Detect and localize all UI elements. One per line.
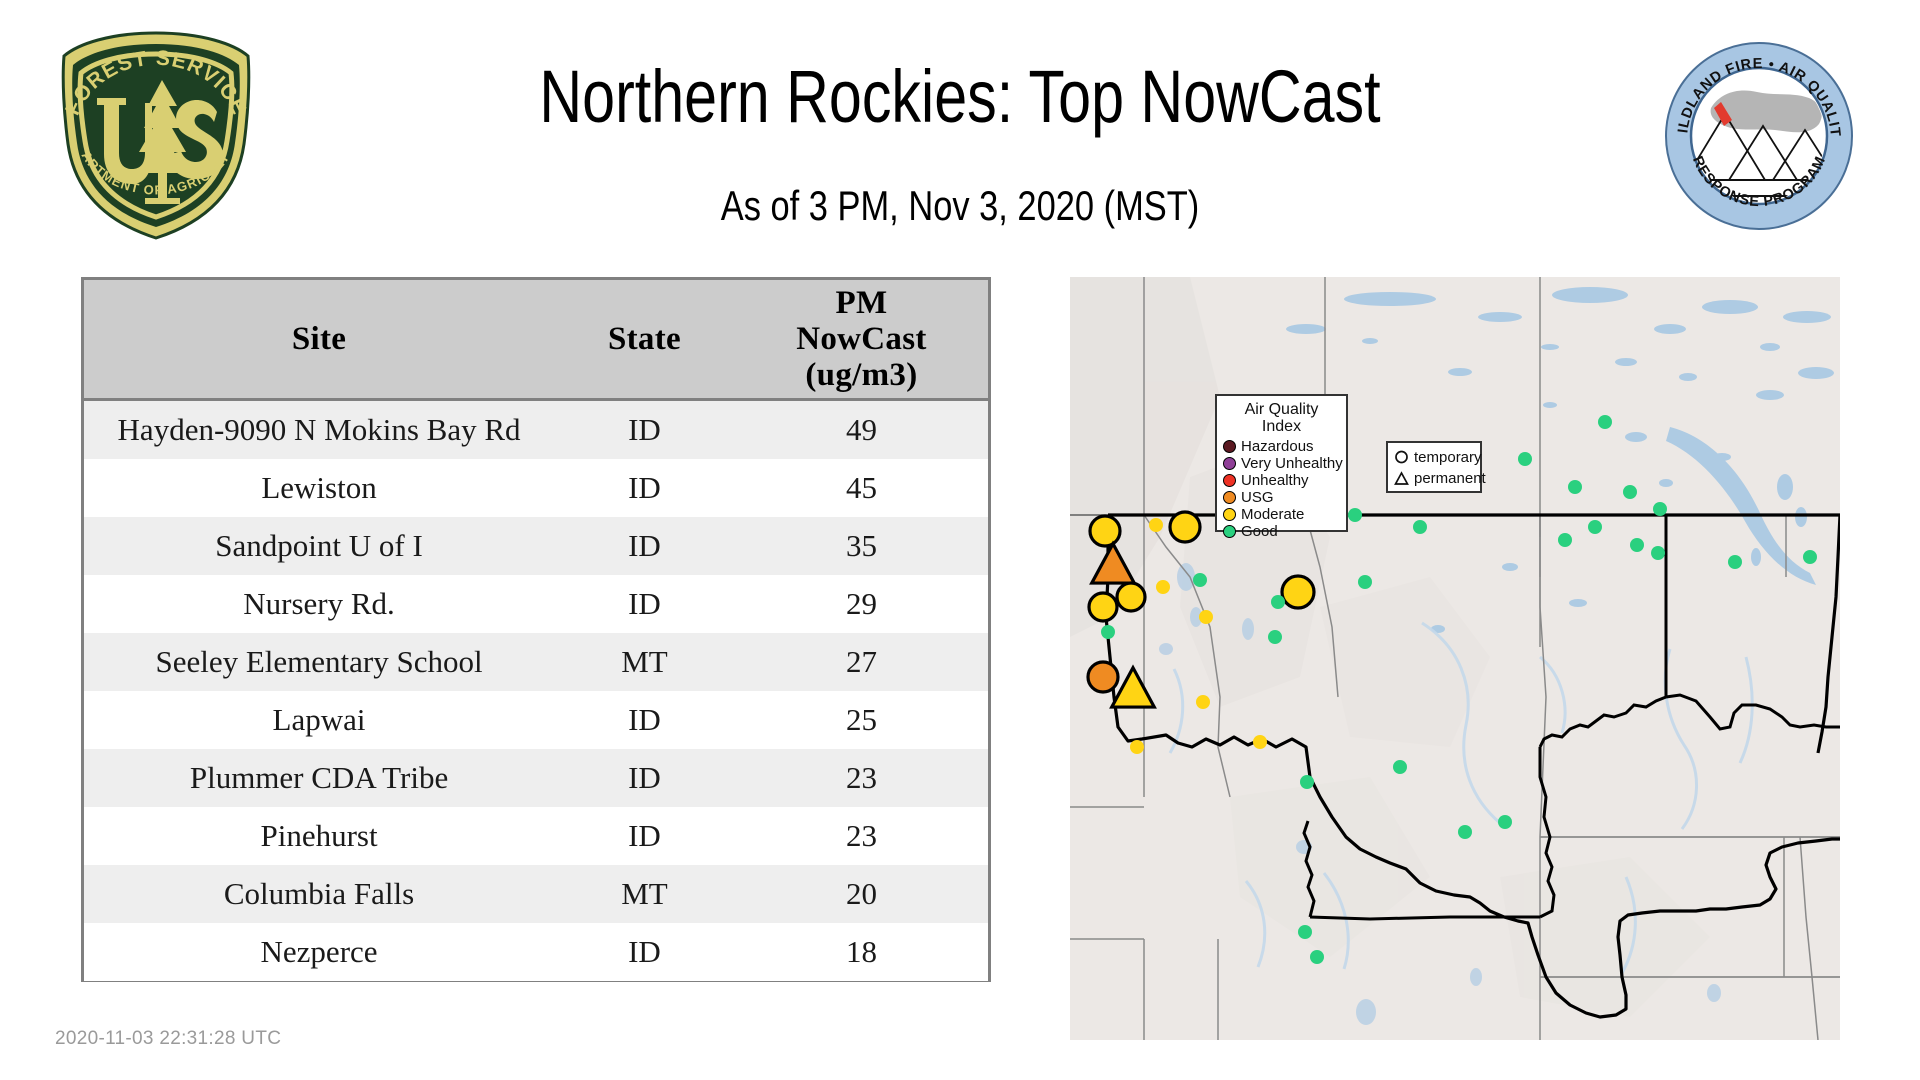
legend-row-temporary: temporary bbox=[1393, 447, 1475, 468]
pm-nowcast-cell: 23 bbox=[735, 807, 988, 865]
map-marker-monitor[interactable] bbox=[1130, 740, 1144, 754]
table-row: Sandpoint U of IID35 bbox=[84, 517, 988, 575]
pm-nowcast-cell: 35 bbox=[735, 517, 988, 575]
map-marker-monitor[interactable] bbox=[1458, 825, 1472, 839]
aqi-legend-label: Hazardous bbox=[1241, 439, 1314, 455]
aqi-color-swatch bbox=[1223, 474, 1236, 487]
pm-nowcast-cell: 25 bbox=[735, 691, 988, 749]
map-marker-monitor[interactable] bbox=[1271, 595, 1285, 609]
aqi-legend-title: Air Quality Index bbox=[1223, 401, 1340, 435]
map-marker-monitor[interactable] bbox=[1728, 555, 1742, 569]
pm-nowcast-cell: 18 bbox=[735, 923, 988, 981]
map-marker-monitor[interactable] bbox=[1498, 815, 1512, 829]
state-cell: ID bbox=[554, 807, 735, 865]
map-marker-monitor[interactable] bbox=[1298, 925, 1312, 939]
map-marker-monitor[interactable] bbox=[1310, 950, 1324, 964]
page-title: Northern Rockies: Top NowCast bbox=[432, 56, 1488, 138]
table-row: Seeley Elementary SchoolMT27 bbox=[84, 633, 988, 691]
state-cell: ID bbox=[554, 575, 735, 633]
map-marker-monitor[interactable] bbox=[1348, 508, 1362, 522]
map-marker-monitor[interactable] bbox=[1300, 775, 1314, 789]
table-row: Nursery Rd.ID29 bbox=[84, 575, 988, 633]
column-header-site: Site bbox=[84, 280, 554, 400]
table-row: Hayden-9090 N Mokins Bay RdID49 bbox=[84, 400, 988, 460]
aqi-legend-row: USG bbox=[1223, 489, 1340, 506]
map-marker-highlighted[interactable] bbox=[1089, 593, 1117, 621]
pm-nowcast-cell: 23 bbox=[735, 749, 988, 807]
table-row: Columbia FallsMT20 bbox=[84, 865, 988, 923]
map-marker-monitor[interactable] bbox=[1558, 533, 1572, 547]
table-row: LapwaiID25 bbox=[84, 691, 988, 749]
aqi-legend-row: Good bbox=[1223, 523, 1340, 540]
us-forest-service-shield-logo: FOREST SERVICE DEPARTMENT OF AGRICULTURE bbox=[52, 28, 260, 243]
map-marker-monitor[interactable] bbox=[1156, 580, 1170, 594]
aqi-legend-row: Moderate bbox=[1223, 506, 1340, 523]
permanent-triangle-icon bbox=[1393, 470, 1410, 487]
map-marker-monitor[interactable] bbox=[1358, 575, 1372, 589]
map-marker-monitor[interactable] bbox=[1253, 735, 1267, 749]
table-row: PinehurstID23 bbox=[84, 807, 988, 865]
legend-label-temporary: temporary bbox=[1414, 450, 1482, 466]
map-marker-highlighted[interactable] bbox=[1088, 662, 1118, 692]
table-header-row: Site State PM NowCast (ug/m3) bbox=[84, 280, 988, 400]
state-cell: ID bbox=[554, 691, 735, 749]
map-marker-highlighted[interactable] bbox=[1092, 544, 1135, 583]
aqi-legend-row: Very Unhealthy bbox=[1223, 455, 1340, 472]
aqi-legend-label: Moderate bbox=[1241, 507, 1304, 523]
table-row: Plummer CDA TribeID23 bbox=[84, 749, 988, 807]
page-subtitle: As of 3 PM, Nov 3, 2020 (MST) bbox=[419, 182, 1501, 230]
state-cell: ID bbox=[554, 923, 735, 981]
table-body: Hayden-9090 N Mokins Bay RdID49LewistonI… bbox=[84, 400, 988, 982]
aqi-legend-row: Hazardous bbox=[1223, 438, 1340, 455]
generated-timestamp: 2020-11-03 22:31:28 UTC bbox=[55, 1028, 281, 1050]
aqi-color-swatch bbox=[1223, 491, 1236, 504]
state-cell: ID bbox=[554, 749, 735, 807]
pm-nowcast-cell: 27 bbox=[735, 633, 988, 691]
wildland-fire-air-quality-seal-logo: WILDLAND FIRE • AIR QUALITY RESPONSE PRO… bbox=[1663, 40, 1855, 232]
aqi-color-swatch bbox=[1223, 440, 1236, 453]
aqi-legend-label: Unhealthy bbox=[1241, 473, 1309, 489]
pm-nowcast-cell: 49 bbox=[735, 400, 988, 460]
map-marker-highlighted[interactable] bbox=[1170, 512, 1200, 542]
site-cell: Lapwai bbox=[84, 691, 554, 749]
state-cell: ID bbox=[554, 517, 735, 575]
map-marker-monitor[interactable] bbox=[1598, 415, 1612, 429]
map-marker-monitor[interactable] bbox=[1149, 518, 1163, 532]
aqi-legend: Air Quality Index HazardousVery Unhealth… bbox=[1215, 394, 1348, 532]
map-marker-monitor[interactable] bbox=[1588, 520, 1602, 534]
pm-nowcast-cell: 20 bbox=[735, 865, 988, 923]
site-cell: Hayden-9090 N Mokins Bay Rd bbox=[84, 400, 554, 460]
aqi-color-swatch bbox=[1223, 525, 1236, 538]
map-marker-monitor[interactable] bbox=[1568, 480, 1582, 494]
state-cell: MT bbox=[554, 865, 735, 923]
site-cell: Lewiston bbox=[84, 459, 554, 517]
aqi-legend-label: Good bbox=[1241, 524, 1278, 540]
site-cell: Plummer CDA Tribe bbox=[84, 749, 554, 807]
map-marker-monitor[interactable] bbox=[1199, 610, 1213, 624]
site-cell: Nursery Rd. bbox=[84, 575, 554, 633]
pm-header-line-1: PM bbox=[735, 285, 988, 321]
aqi-legend-row: Unhealthy bbox=[1223, 472, 1340, 489]
pm-header-line-3: (ug/m3) bbox=[735, 357, 988, 393]
column-header-pm-nowcast: PM NowCast (ug/m3) bbox=[735, 280, 988, 400]
site-cell: Columbia Falls bbox=[84, 865, 554, 923]
map-marker-monitor[interactable] bbox=[1268, 630, 1282, 644]
map-marker-monitor[interactable] bbox=[1393, 760, 1407, 774]
pm-nowcast-cell: 29 bbox=[735, 575, 988, 633]
map-marker-monitor[interactable] bbox=[1623, 485, 1637, 499]
map-marker-monitor[interactable] bbox=[1630, 538, 1644, 552]
site-cell: Sandpoint U of I bbox=[84, 517, 554, 575]
state-cell: MT bbox=[554, 633, 735, 691]
column-header-state: State bbox=[554, 280, 735, 400]
map-marker-monitor[interactable] bbox=[1518, 452, 1532, 466]
table-row: NezperceID18 bbox=[84, 923, 988, 981]
legend-row-permanent: permanent bbox=[1393, 468, 1475, 489]
table-row: LewistonID45 bbox=[84, 459, 988, 517]
top-nowcast-table: Site State PM NowCast (ug/m3) Hayden-909… bbox=[81, 277, 991, 982]
aqi-color-swatch bbox=[1223, 457, 1236, 470]
legend-label-permanent: permanent bbox=[1414, 471, 1486, 487]
site-cell: Seeley Elementary School bbox=[84, 633, 554, 691]
pm-nowcast-cell: 45 bbox=[735, 459, 988, 517]
site-cell: Nezperce bbox=[84, 923, 554, 981]
map-marker-highlighted[interactable] bbox=[1090, 516, 1120, 546]
pm-header-line-2: NowCast bbox=[735, 321, 988, 357]
site-cell: Pinehurst bbox=[84, 807, 554, 865]
state-cell: ID bbox=[554, 400, 735, 460]
map-marker-monitor[interactable] bbox=[1101, 625, 1115, 639]
map-marker-monitor[interactable] bbox=[1413, 520, 1427, 534]
map-marker-monitor[interactable] bbox=[1653, 502, 1667, 516]
aqi-legend-label: USG bbox=[1241, 490, 1274, 506]
aqi-legend-label: Very Unhealthy bbox=[1241, 456, 1343, 472]
map-marker-monitor[interactable] bbox=[1196, 695, 1210, 709]
map-marker-monitor[interactable] bbox=[1651, 546, 1665, 560]
station-type-legend: temporary permanent bbox=[1386, 441, 1482, 493]
temporary-circle-icon bbox=[1393, 449, 1410, 466]
air-quality-map[interactable] bbox=[1070, 277, 1840, 1040]
aqi-color-swatch bbox=[1223, 508, 1236, 521]
map-marker-highlighted[interactable] bbox=[1117, 583, 1145, 611]
map-marker-highlighted[interactable] bbox=[1282, 576, 1314, 608]
state-cell: ID bbox=[554, 459, 735, 517]
map-marker-monitor[interactable] bbox=[1803, 550, 1817, 564]
map-marker-monitor[interactable] bbox=[1193, 573, 1207, 587]
